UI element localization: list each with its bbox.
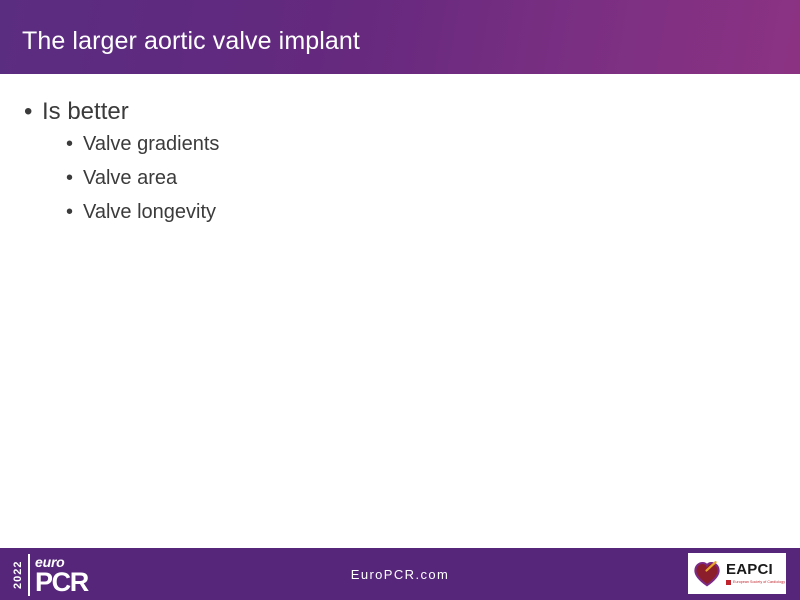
bullet-item-level2: • Valve longevity [42, 198, 760, 226]
slide-title: The larger aortic valve implant [22, 27, 360, 56]
footer-website-text-wrap: EuroPCR.com [0, 548, 800, 600]
bullet-content-block: • Is better • Valve gradients • Valve ar… [0, 96, 760, 233]
bullet-item-level2: • Valve area [42, 164, 760, 192]
bullet-list-level1: • Is better • Valve gradients • Valve ar… [0, 96, 760, 227]
bullet-list-level2: • Valve gradients • Valve area • Valve l… [42, 130, 760, 227]
bullet-marker-icon: • [66, 130, 73, 158]
bullet-label-level2: Valve longevity [83, 201, 216, 223]
slide-body: • Is better • Valve gradients • Valve ar… [0, 74, 800, 548]
eapci-logo-name: EAPCI [726, 562, 785, 577]
eapci-logo: EAPCI European Society of Cardiology [688, 553, 786, 594]
presentation-slide: The larger aortic valve implant • Is bet… [0, 0, 800, 600]
bullet-marker-icon: • [66, 198, 73, 226]
slide-footer-band: 2022 euro PCR EuroPCR.com EAPCI [0, 548, 800, 600]
eapci-logo-subtitle-row: European Society of Cardiology [726, 580, 785, 585]
footer-website-text: EuroPCR.com [351, 567, 449, 582]
bullet-label-level2: Valve gradients [83, 133, 219, 155]
bullet-marker-icon: • [24, 96, 32, 128]
bullet-item-level2: • Valve gradients [42, 130, 760, 158]
heart-with-arrow-icon [693, 560, 721, 588]
bullet-marker-icon: • [66, 164, 73, 192]
bullet-label-level2: Valve area [83, 167, 177, 189]
slide-header-band: The larger aortic valve implant [0, 0, 800, 74]
bullet-item-level1: • Is better • Valve gradients • Valve ar… [0, 96, 760, 227]
eapci-logo-text: EAPCI European Society of Cardiology [726, 562, 785, 585]
esc-square-icon [726, 580, 731, 585]
eapci-logo-subtitle: European Society of Cardiology [733, 581, 785, 585]
bullet-label-level1: Is better [42, 98, 129, 125]
